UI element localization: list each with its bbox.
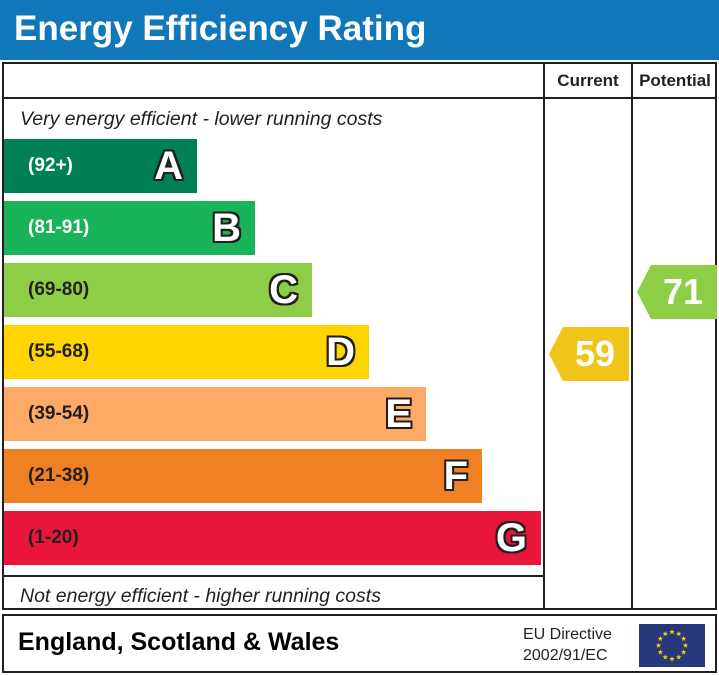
band-letter-label: D <box>326 332 355 372</box>
header-row-divider <box>4 97 715 99</box>
band-range-label: (92+) <box>28 155 73 177</box>
band-range-label: (21-38) <box>28 465 89 487</box>
rating-band-d: (55-68)D <box>4 325 369 379</box>
band-range-label: (39-54) <box>28 403 89 425</box>
rating-value-current: 59 <box>563 336 615 372</box>
caption-not-efficient: Not energy efficient - higher running co… <box>20 585 381 608</box>
chart-header-bar: Energy Efficiency Rating <box>0 0 719 60</box>
band-letter-label: B <box>212 208 241 248</box>
rating-band-f: (21-38)F <box>4 449 482 503</box>
caption-bottom-divider <box>4 575 543 577</box>
certificate-footer: England, Scotland & Wales EU Directive 2… <box>2 614 717 673</box>
caption-very-efficient: Very energy efficient - lower running co… <box>20 108 382 131</box>
eu-directive-line-1: EU Directive <box>523 625 628 646</box>
band-range-label: (69-80) <box>28 279 89 301</box>
rating-band-c: (69-80)C <box>4 263 312 317</box>
rating-arrow-potential: 71 <box>637 265 717 319</box>
band-letter-label: C <box>269 270 298 310</box>
energy-efficiency-rating-certificate: Energy Efficiency Rating Current Potenti… <box>0 0 719 675</box>
band-letter-label: G <box>496 518 527 558</box>
eu-flag-icon <box>639 624 705 667</box>
page-title: Energy Efficiency Rating <box>14 9 426 49</box>
rating-bands: (92+)A(81-91)B(69-80)C(55-68)D(39-54)E(2… <box>4 139 543 575</box>
band-range-label: (81-91) <box>28 217 89 239</box>
band-range-label: (55-68) <box>28 341 89 363</box>
band-letter-label: A <box>154 146 183 186</box>
footer-region-label: England, Scotland & Wales <box>18 628 339 657</box>
eu-directive-text: EU Directive 2002/91/EC <box>523 625 628 667</box>
band-letter-label: E <box>385 394 412 434</box>
column-header-current: Current <box>545 71 631 91</box>
rating-band-e: (39-54)E <box>4 387 426 441</box>
rating-value-potential: 71 <box>651 274 703 310</box>
column-header-potential: Potential <box>633 71 717 91</box>
potential-column-divider <box>631 64 633 608</box>
eu-directive-line-2: 2002/91/EC <box>523 646 628 667</box>
rating-band-b: (81-91)B <box>4 201 255 255</box>
rating-band-a: (92+)A <box>4 139 197 193</box>
band-range-label: (1-20) <box>28 527 79 549</box>
rating-table: Current Potential Very energy efficient … <box>2 62 717 610</box>
band-letter-label: F <box>444 456 468 496</box>
rating-band-g: (1-20)G <box>4 511 541 565</box>
current-column-divider <box>543 64 545 608</box>
rating-arrow-current: 59 <box>549 327 629 381</box>
